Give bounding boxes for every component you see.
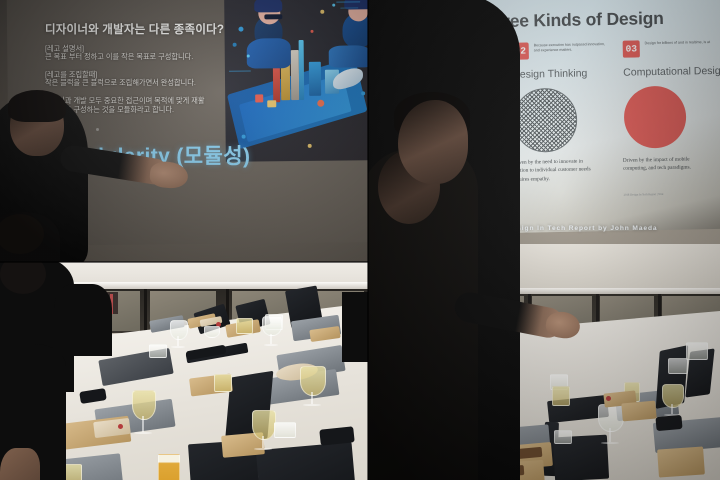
photo-vignette: [368, 0, 720, 480]
wall-cornice: [64, 282, 368, 289]
wine-glass: [262, 316, 282, 336]
drinking-glass: [214, 374, 232, 392]
drinking-glass: [204, 326, 220, 338]
drinking-glass: [149, 344, 167, 358]
drinking-glass: [274, 422, 296, 438]
photo-collage: 디자이너와 개발자는 다른 종족이다? [레고 설명서] 큰 목표 부터 정하고…: [0, 0, 720, 480]
wine-glass: [132, 390, 156, 420]
drinking-glass: [170, 320, 188, 340]
panel-korean-slide-photo: 디자이너와 개발자는 다른 종족이다? [레고 설명서] 큰 목표 부터 정하고…: [0, 0, 368, 262]
panel-design-in-tech-photo: There Are Three Kinds of Design 01 There…: [368, 0, 720, 480]
photo-vignette: [0, 0, 368, 262]
attendee-silhouette: [54, 284, 112, 356]
attendee-silhouette: [342, 292, 368, 362]
beer-glass: [158, 454, 180, 480]
collage-seam-vertical: [367, 0, 369, 480]
wine-glass: [252, 410, 276, 440]
collage-seam-horizontal: [0, 261, 368, 263]
panel-conference-table-photo: [0, 262, 368, 480]
attendee-hand: [0, 448, 40, 480]
drinking-glass: [236, 318, 253, 334]
wine-glass: [300, 366, 326, 396]
